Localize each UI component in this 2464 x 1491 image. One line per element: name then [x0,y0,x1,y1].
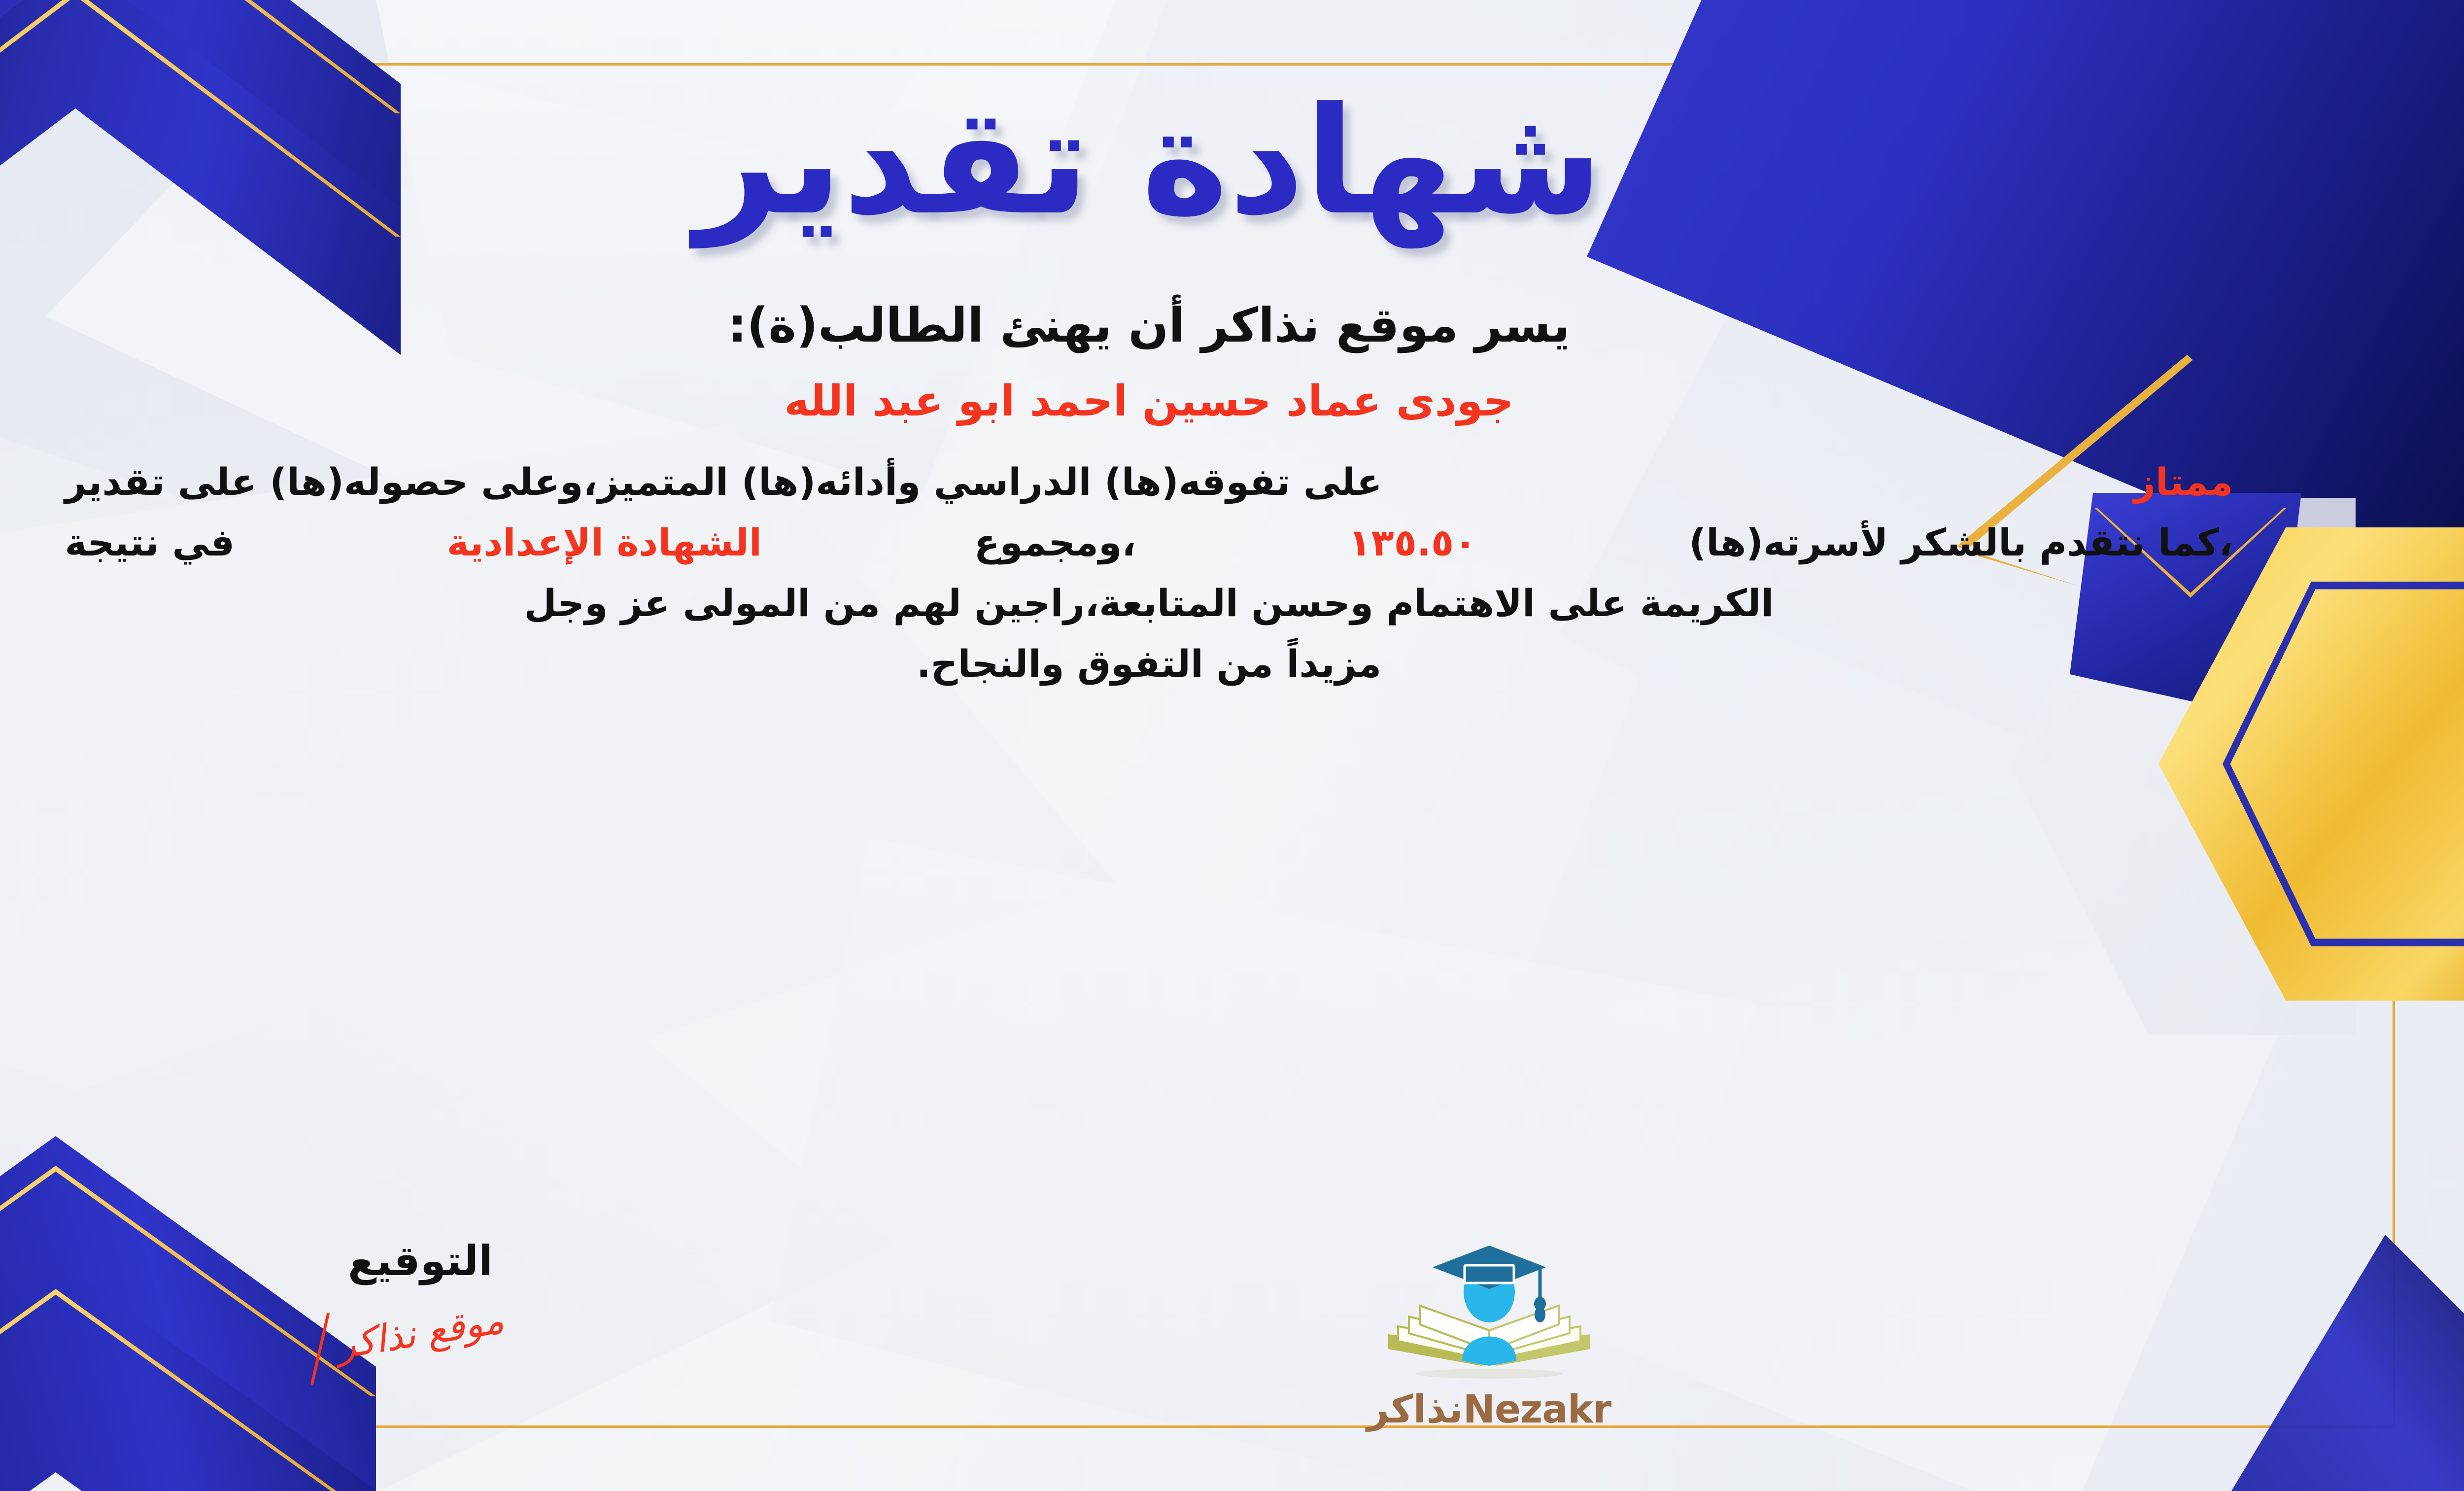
signature-script: موقع نذاكر [334,1298,507,1367]
exam-name: الشهادة الإعدادية [447,512,762,573]
total-label: ،ومجموع [974,512,1136,573]
certificate-body: ممتاز على تفوقه(ها) الدراسي وأدائه(ها) ا… [65,451,2233,694]
body-line-4: مزيداً من التفوق والنجاح. [65,633,2233,694]
total-score: ١٣٥.٥٠ [1348,512,1477,573]
result-label: في نتيجة [65,512,235,573]
signature-block: التوقيع موقع نذاكر [268,1237,573,1354]
salutation-text: يسر موقع نذاكر أن يهنئ الطالب(ة): [728,298,1570,353]
signature-label: التوقيع [348,1237,493,1285]
thanks-clause: ،كما نتقدم بالشكر لأسرته(ها) [1689,512,2233,573]
body-line-1-text: على تفوقه(ها) الدراسي وأدائه(ها) المتميز… [65,451,1382,512]
brand-logo: Nezakrنذاكر [1312,1237,1667,1432]
body-line-1: ممتاز على تفوقه(ها) الدراسي وأدائه(ها) ا… [65,451,2233,512]
body-line-3: الكريمة على الاهتمام وحسن المتابعة،راجين… [65,573,2233,633]
certificate-footer: Nezakrنذاكر التوقيع موقع نذاكر [0,1237,2464,1432]
logo-wordmark: Nezakrنذاكر [1367,1387,1611,1432]
certificate-title: شهادة تقدير [695,88,1603,236]
certificate-page: شهادة تقدير يسر موقع نذاكر أن يهنئ الطال… [0,0,2464,1491]
graduate-book-icon [1383,1237,1595,1385]
body-line-2: ،كما نتقدم بالشكر لأسرته(ها) ١٣٥.٥٠ ،ومج… [65,512,2233,573]
student-name: جودى عماد حسين احمد ابو عبد الله [784,377,1513,426]
grade-value: ممتاز [2134,451,2233,512]
